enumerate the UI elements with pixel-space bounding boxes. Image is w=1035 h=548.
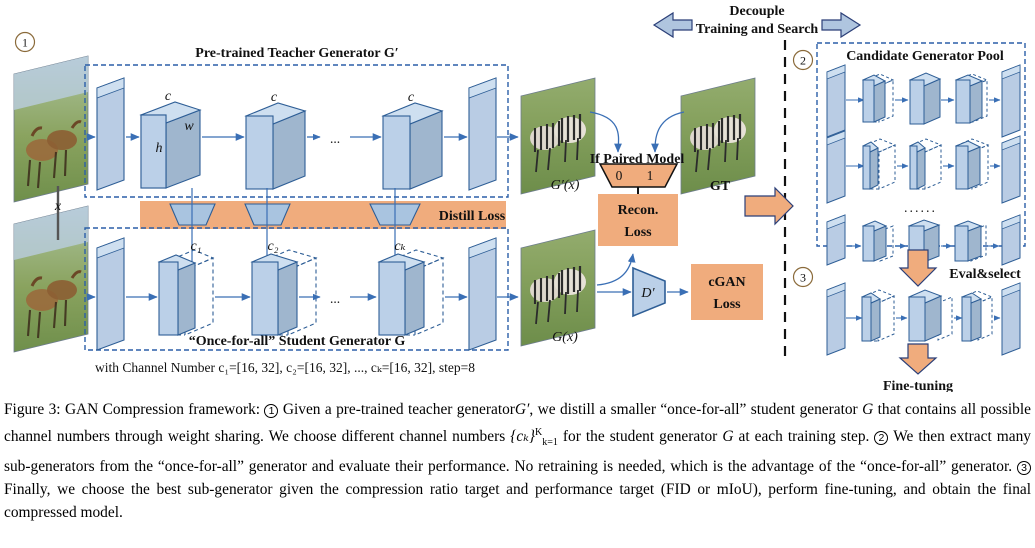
figure-caption: Figure 3: GAN Compression framework: 1 G… xyxy=(4,398,1031,524)
student-channel-caption: with Channel Number c₁=[16, 32], c₂=[16,… xyxy=(95,360,475,375)
student-channel-label-2: c₂ xyxy=(267,239,278,254)
fine-tuning-label: Fine-tuning xyxy=(883,379,953,392)
ground-truth-label: GT xyxy=(710,179,731,194)
recon-loss-line2: Loss xyxy=(624,225,652,240)
caption-marker-1: 1 xyxy=(264,404,278,418)
teacher-conv-block-1: c w h xyxy=(141,89,200,188)
student-conv-block-2: c₂ xyxy=(252,239,316,335)
candidate-pool-title: Candidate Generator Pool xyxy=(846,49,1004,64)
candidate-generator-row-2 xyxy=(827,131,1020,203)
caption-ck-sub: k=1 xyxy=(542,437,558,448)
cgan-loss-line2: Loss xyxy=(713,297,741,312)
mux-trapezoid xyxy=(600,164,677,187)
recon-loss-line1: Recon. xyxy=(618,203,659,218)
step-marker-2-label: 2 xyxy=(800,54,806,68)
teacher-input-plane xyxy=(97,78,124,190)
student-channel-label-1: c₁ xyxy=(190,239,201,254)
caption-p1: GAN Compression framework: xyxy=(65,401,260,418)
ground-truth-image: GT xyxy=(681,78,755,194)
caption-g2: G xyxy=(722,428,733,445)
student-conv-block-k: cₖ xyxy=(379,239,443,335)
dim-label-c3: c xyxy=(408,90,415,105)
student-output-image: G(x) xyxy=(521,230,595,346)
step-marker-1: 1 xyxy=(16,33,35,52)
student-output-plane xyxy=(469,238,496,350)
caption-prefix: Figure 3: xyxy=(4,401,65,418)
input-image-student xyxy=(14,206,88,352)
caption-ck-set: {cₖ} xyxy=(510,428,535,445)
candidate-generator-row-1 xyxy=(827,65,1020,137)
student-input-plane xyxy=(97,238,124,350)
decouple-line2: Training and Search xyxy=(696,22,819,37)
caption-p8: Finally, we choose the best sub-generato… xyxy=(4,481,1031,521)
decouple-arrow-right xyxy=(822,13,860,37)
caption-marker-2: 2 xyxy=(874,431,888,445)
distill-loss-label: Distill Loss xyxy=(439,209,506,224)
caption-p6: at each training step. xyxy=(738,428,869,445)
dim-label-c2: c xyxy=(271,90,278,105)
decouple-arrow-left xyxy=(654,13,692,37)
step-marker-3-label: 3 xyxy=(800,271,806,285)
student-ellipsis: ... xyxy=(330,291,340,306)
fine-tuning-arrow xyxy=(900,344,936,374)
teacher-output-plane xyxy=(469,78,496,190)
caption-p3: , we distill a smaller “once-for-all” st… xyxy=(529,401,857,418)
figure-page: 1 x xyxy=(0,0,1035,548)
caption-marker-3: 3 xyxy=(1017,461,1031,475)
mux-option-0: 0 xyxy=(616,168,623,183)
cgan-loss-line1: cGAN xyxy=(708,275,745,290)
candidate-pool-ellipsis: ······ xyxy=(904,204,937,219)
discriminator-label: D′ xyxy=(640,286,655,301)
step-marker-1-label: 1 xyxy=(22,38,28,50)
teacher-output-image: G′(x) xyxy=(521,78,595,194)
step-marker-2: 2 xyxy=(794,51,813,70)
teacher-output-label: G′(x) xyxy=(551,178,580,193)
caption-g-prime: G′ xyxy=(515,401,529,418)
dim-label-c: c xyxy=(165,89,172,104)
teacher-conv-block-2: c xyxy=(246,90,305,189)
student-output-label: G(x) xyxy=(552,330,578,345)
mux-option-1: 1 xyxy=(647,168,654,183)
caption-g: G xyxy=(862,401,873,418)
input-label: x xyxy=(54,199,62,214)
gan-compression-diagram: 1 x xyxy=(0,0,1035,392)
student-conv-block-1: c₁ xyxy=(159,239,213,335)
recon-loss-input-arrow xyxy=(597,254,633,285)
step-marker-3: 3 xyxy=(794,268,813,287)
decouple-line1: Decouple xyxy=(729,4,784,19)
caption-p5: for the student generator xyxy=(563,428,717,445)
dim-label-h: h xyxy=(156,141,163,156)
student-channel-label-k: cₖ xyxy=(394,239,405,254)
mux-input-arrow-1 xyxy=(655,112,684,152)
teacher-generator-title: Pre-trained Teacher Generator G′ xyxy=(195,46,398,61)
dim-label-w: w xyxy=(184,119,194,134)
eval-select-label: Eval&select xyxy=(949,267,1021,282)
teacher-conv-block-3: c xyxy=(383,90,442,189)
caption-p2: Given a pre-trained teacher generator xyxy=(283,401,515,418)
input-image-teacher xyxy=(14,56,88,202)
student-generator-title: “Once-for-all” Student Generator G xyxy=(189,334,406,349)
teacher-ellipsis: ... xyxy=(330,131,340,146)
